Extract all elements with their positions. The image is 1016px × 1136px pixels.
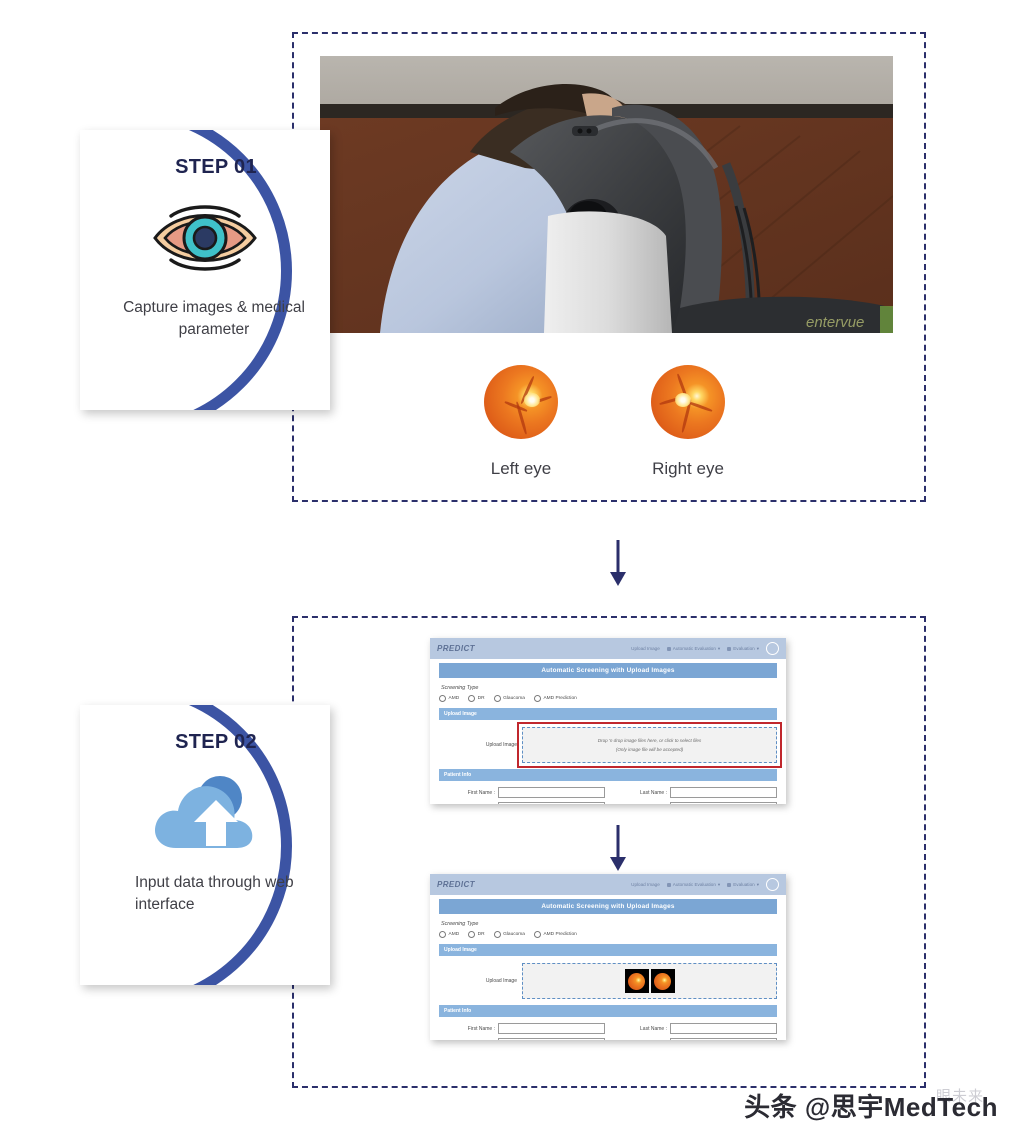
step-02-card: STEP 02 Input data through web interface <box>80 705 330 985</box>
patient-info-section-header: Patient Info <box>439 1005 777 1017</box>
eye-icon <box>149 193 261 281</box>
nav-item-automatic-evaluation[interactable]: Automatic Evaluation ▾ <box>667 882 720 888</box>
webapp-screenshot-empty-upload: PREDICT Upload Image Automatic Evaluatio… <box>430 638 786 804</box>
last-name-input[interactable] <box>670 1023 777 1034</box>
watermark: 头条 @思宇MedTech <box>744 1087 998 1124</box>
file-dropzone[interactable]: Drop 'n drop image files here, or click … <box>522 727 777 763</box>
nav-label: Upload Image <box>631 882 660 887</box>
left-eye-thumbnail[interactable] <box>625 969 649 993</box>
radio-amd[interactable]: AMD <box>439 931 459 938</box>
right-eye-thumbnail[interactable] <box>651 969 675 993</box>
user-avatar[interactable] <box>766 878 779 891</box>
upload-image-field-label: Upload Image <box>439 742 522 748</box>
step-02-title: STEP 02 <box>175 731 257 754</box>
form-row: First Name : Last Name : <box>439 787 777 798</box>
svg-text:entervue: entervue <box>806 314 864 331</box>
radio-glaucoma[interactable]: Glaucoma <box>494 931 525 938</box>
radio-icon <box>439 931 446 938</box>
file-dropzone-with-thumbnails[interactable] <box>522 963 777 999</box>
first-name-input[interactable] <box>498 1023 605 1034</box>
nav-item-upload-image[interactable]: Upload Image <box>631 882 660 887</box>
left-eye-fundus-image <box>484 365 558 439</box>
form-row: Date of Birth : Patient ID : <box>439 1038 777 1040</box>
radio-label: Glaucoma <box>503 932 525 937</box>
patient-id-input[interactable] <box>670 1038 777 1040</box>
grid-icon <box>727 647 731 651</box>
page-title: Automatic Screening with Upload Images <box>439 899 777 914</box>
fundus-camera-photo: entervue <box>320 56 893 333</box>
radio-amd-prediction[interactable]: AMD Prediction <box>534 695 577 702</box>
cloud-upload-icon <box>150 768 260 856</box>
nav-item-evaluation[interactable]: Evaluation ▾ <box>727 646 759 652</box>
radio-amd-prediction[interactable]: AMD Prediction <box>534 931 577 938</box>
date-of-birth-input[interactable] <box>498 802 605 804</box>
webapp-navbar: PREDICT Upload Image Automatic Evaluatio… <box>430 638 786 659</box>
dropzone-primary-text: Drop 'n drop image files here, or click … <box>598 738 702 743</box>
date-of-birth-input[interactable] <box>498 1038 605 1040</box>
radio-icon <box>534 695 541 702</box>
last-name-label: Last Name : <box>611 1026 667 1032</box>
chevron-down-icon: ▾ <box>757 882 759 888</box>
nav-item-upload-image[interactable]: Upload Image <box>631 646 660 651</box>
uploaded-thumbnails <box>625 969 675 993</box>
radio-label: DR <box>478 696 485 701</box>
step-01-title: STEP 01 <box>175 156 257 179</box>
nav-label: Automatic Evaluation <box>673 882 716 887</box>
first-name-label: First Name : <box>439 1026 495 1032</box>
grid-icon <box>667 647 671 651</box>
last-name-input[interactable] <box>670 787 777 798</box>
form-row: Date of Birth : Patient ID : <box>439 802 777 804</box>
radio-glaucoma[interactable]: Glaucoma <box>494 695 525 702</box>
screening-type-label: Screening Type <box>441 685 777 691</box>
chevron-down-icon: ▾ <box>718 646 720 652</box>
left-eye-label: Left eye <box>441 459 601 479</box>
nav-item-automatic-evaluation[interactable]: Automatic Evaluation ▾ <box>667 646 720 652</box>
fundus-camera-illustration: entervue <box>320 56 893 333</box>
patient-id-input[interactable] <box>670 802 777 804</box>
form-row: First Name : Last Name : <box>439 1023 777 1034</box>
chevron-down-icon: ▾ <box>757 646 759 652</box>
radio-label: AMD Prediction <box>543 696 576 701</box>
radio-label: AMD Prediction <box>543 932 576 937</box>
connector-arrow-1 <box>606 540 630 586</box>
upload-image-field-label: Upload Image <box>439 978 522 984</box>
dropzone-secondary-text: (Only image file will be accepted) <box>616 747 683 752</box>
grid-icon <box>667 883 671 887</box>
step-01-card: STEP 01 Capture images & medical paramet… <box>80 130 330 410</box>
radio-icon <box>439 695 446 702</box>
upload-image-section-header: Upload Image <box>439 944 777 956</box>
webapp-navbar: PREDICT Upload Image Automatic Evaluatio… <box>430 874 786 895</box>
chevron-down-icon: ▾ <box>718 882 720 888</box>
radio-label: Glaucoma <box>503 696 525 701</box>
connector-arrow-2 <box>606 825 630 871</box>
radio-icon <box>494 695 501 702</box>
nav-label: Automatic Evaluation <box>673 646 716 651</box>
radio-icon <box>468 931 475 938</box>
webapp-screenshot-filled-upload: PREDICT Upload Image Automatic Evaluatio… <box>430 874 786 1040</box>
radio-dr[interactable]: DR <box>468 695 484 702</box>
radio-label: AMD <box>449 932 460 937</box>
patient-info-section-header: Patient Info <box>439 769 777 781</box>
nav-label: Upload Image <box>631 646 660 651</box>
first-name-label: First Name : <box>439 790 495 796</box>
screening-type-radio-group[interactable]: AMD DR Glaucoma AMD Prediction <box>439 931 777 938</box>
step-01-description: Capture images & medical parameter <box>105 297 305 342</box>
nav-label: Evaluation <box>733 882 754 887</box>
nav-item-evaluation[interactable]: Evaluation ▾ <box>727 882 759 888</box>
user-avatar[interactable] <box>766 642 779 655</box>
upload-image-section-header: Upload Image <box>439 708 777 720</box>
radio-icon <box>534 931 541 938</box>
radio-amd[interactable]: AMD <box>439 695 459 702</box>
grid-icon <box>727 883 731 887</box>
radio-icon <box>494 931 501 938</box>
right-eye-label: Right eye <box>608 459 768 479</box>
webapp-logo: PREDICT <box>437 644 475 653</box>
radio-icon <box>468 695 475 702</box>
first-name-input[interactable] <box>498 787 605 798</box>
page-title: Automatic Screening with Upload Images <box>439 663 777 678</box>
last-name-label: Last Name : <box>611 790 667 796</box>
screening-type-label: Screening Type <box>441 921 777 927</box>
radio-dr[interactable]: DR <box>468 931 484 938</box>
step-02-description: Input data through web interface <box>105 872 305 917</box>
nav-label: Evaluation <box>733 646 754 651</box>
screening-type-radio-group[interactable]: AMD DR Glaucoma AMD Prediction <box>439 695 777 702</box>
radio-label: DR <box>478 932 485 937</box>
right-eye-fundus-image <box>651 365 725 439</box>
webapp-logo: PREDICT <box>437 880 475 889</box>
radio-label: AMD <box>449 696 460 701</box>
